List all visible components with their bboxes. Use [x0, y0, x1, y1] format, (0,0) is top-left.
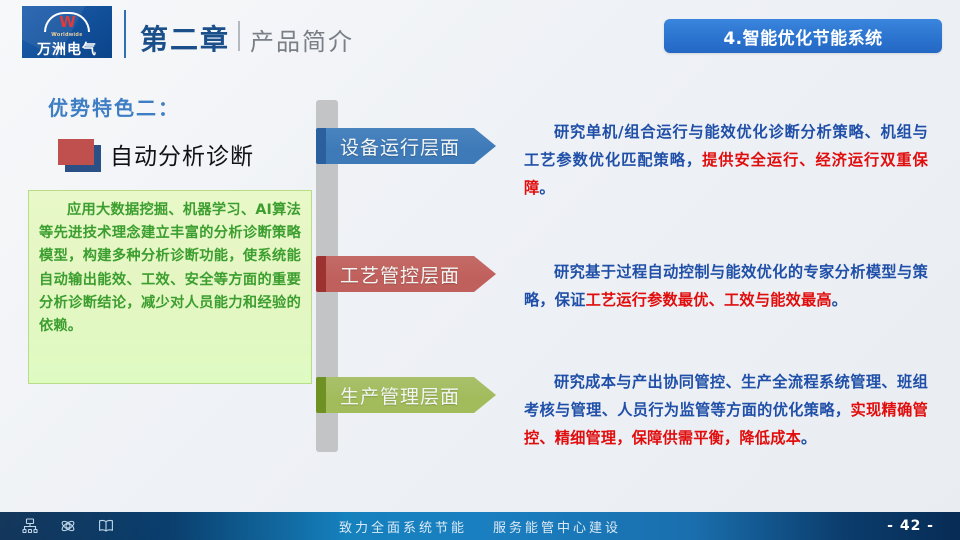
advantage-heading: 自动分析诊断: [110, 137, 254, 171]
footer-slogan: 致力全面系统节能 服务能管中心建设: [0, 512, 960, 540]
chapter-title: 第二章: [140, 18, 230, 58]
slide-header: W Worldwide 万洲电气 第二章 产品简介 4.智能优化节能系统: [0, 0, 960, 72]
body-text: 。: [832, 291, 847, 309]
footer-slogan-left: 致力全面系统节能: [339, 517, 467, 536]
chapter-separator: [238, 21, 240, 51]
company-logo: W Worldwide 万洲电气: [22, 6, 112, 58]
level-paragraph-equipment: 研究单机/组合运行与能效优化诊断分析策略、机组与工艺参数优化匹配策略，提供安全运…: [524, 118, 928, 202]
level-paragraph-process: 研究基于过程自动控制与能效优化的专家分析模型与策略，保证工艺运行参数最优、工效与…: [524, 258, 928, 314]
body-text: 。: [539, 179, 554, 197]
page-number: - 42 -: [887, 512, 934, 540]
emphasis-text: 工艺运行参数最优、工效与能效最高: [586, 291, 832, 309]
description-callout-box: 应用大数据挖掘、机器学习、AI算法等先进技术理念建立丰富的分析诊断策略模型，构建…: [28, 190, 312, 384]
logo-arc-icon: W: [22, 10, 112, 34]
footer-slogan-right: 服务能管中心建设: [493, 517, 621, 536]
level-banner-label: 设备运行层面: [340, 133, 460, 160]
section-badge-label: 4.智能优化节能系统: [723, 24, 882, 49]
slide-footer: 致力全面系统节能 服务能管中心建设 - 42 -: [0, 512, 960, 540]
logo-english-name: Worldwide: [22, 32, 112, 38]
level-banner-label: 工艺管控层面: [340, 261, 460, 288]
description-text: 应用大数据挖掘、机器学习、AI算法等先进技术理念建立丰富的分析诊断策略模型，构建…: [39, 199, 301, 338]
body-text: 。: [801, 429, 816, 447]
chapter-subtitle: 产品简介: [250, 22, 354, 57]
bullet-square-icon: [58, 139, 94, 165]
slide-canvas: W Worldwide 万洲电气 第二章 产品简介 4.智能优化节能系统 优势特…: [0, 0, 960, 540]
section-badge: 4.智能优化节能系统: [664, 19, 942, 53]
logo-mark-letter: W: [44, 15, 90, 30]
level-banner-process[interactable]: 工艺管控层面: [326, 256, 496, 292]
advantage-title: 优势特色二：: [48, 92, 180, 121]
logo-chinese-name: 万洲电气: [22, 39, 112, 58]
level-banner-equipment[interactable]: 设备运行层面: [326, 128, 496, 164]
header-divider: [124, 10, 126, 58]
level-banner-label: 生产管理层面: [340, 382, 460, 409]
level-paragraph-production: 研究成本与产出协同管控、生产全流程系统管理、班组考核与管理、人员行为监管等方面的…: [524, 368, 928, 452]
level-banner-production[interactable]: 生产管理层面: [326, 377, 496, 413]
